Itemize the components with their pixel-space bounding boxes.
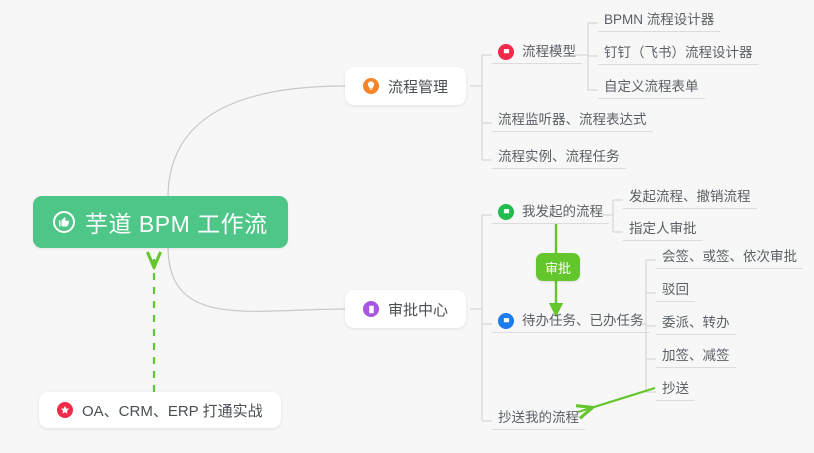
node-process-model[interactable]: 流程模型 (492, 40, 582, 64)
node-process-instance-task-label: 流程实例、流程任务 (498, 150, 620, 164)
node-cc-to-me-processes-label: 抄送我的流程 (498, 411, 579, 425)
link-root-to-approval-center (168, 246, 345, 311)
branch-approval-center[interactable]: 审批中心 (345, 290, 466, 328)
lightbulb-icon (363, 78, 379, 94)
floating-node-integration-label: OA、CRM、ERP 打通实战 (82, 400, 263, 421)
node-process-listener-expression[interactable]: 流程监听器、流程表达式 (492, 108, 653, 132)
node-assignee-approval[interactable]: 指定人审批 (623, 217, 703, 241)
floating-node-integration[interactable]: OA、CRM、ERP 打通实战 (39, 392, 281, 428)
node-cc-to-me-processes[interactable]: 抄送我的流程 (492, 406, 585, 430)
node-process-instance-task[interactable]: 流程实例、流程任务 (492, 145, 626, 169)
node-add-remove-sign-label: 加签、减签 (662, 349, 730, 363)
root-node[interactable]: 芋道 BPM 工作流 (33, 196, 288, 248)
clipboard-icon (363, 301, 379, 317)
node-dingtalk-feishu-designer[interactable]: 钉钉（飞书）流程设计器 (598, 41, 759, 65)
node-dingtalk-feishu-designer-label: 钉钉（飞书）流程设计器 (604, 46, 753, 60)
node-cc-label: 抄送 (662, 382, 689, 396)
mindmap-canvas: 芋道 BPM 工作流 流程管理 流程模型 BPMN 流程设计器 钉钉（飞书）流程… (0, 0, 814, 453)
branch-approval-center-label: 审批中心 (388, 299, 448, 320)
node-start-cancel-process[interactable]: 发起流程、撤销流程 (623, 185, 757, 209)
node-countersign-orsign-sequential-label: 会签、或签、依次审批 (662, 250, 797, 264)
root-label: 芋道 BPM 工作流 (85, 205, 268, 239)
branch-process-management[interactable]: 流程管理 (345, 67, 466, 105)
thumbs-up-icon (53, 211, 75, 233)
node-my-started-processes[interactable]: 我发起的流程 (492, 200, 609, 224)
node-delegate-transfer-label: 委派、转办 (662, 316, 730, 330)
node-process-model-label: 流程模型 (522, 45, 576, 59)
node-reject[interactable]: 驳回 (656, 278, 695, 302)
flag-icon (498, 313, 514, 329)
flag-icon (498, 44, 514, 60)
node-bpmn-designer-label: BPMN 流程设计器 (604, 13, 714, 27)
node-reject-label: 驳回 (662, 283, 689, 297)
node-bpmn-designer[interactable]: BPMN 流程设计器 (598, 8, 720, 32)
link-root-to-process-management (168, 86, 345, 198)
flag-icon (498, 204, 514, 220)
arrow-cc-flow (578, 388, 655, 412)
node-delegate-transfer[interactable]: 委派、转办 (656, 311, 736, 335)
node-todo-done-tasks[interactable]: 待办任务、已办任务 (492, 309, 650, 333)
node-custom-process-form[interactable]: 自定义流程表单 (598, 75, 705, 99)
star-icon (57, 402, 73, 418)
node-my-started-processes-label: 我发起的流程 (522, 205, 603, 219)
node-assignee-approval-label: 指定人审批 (629, 222, 697, 236)
node-cc[interactable]: 抄送 (656, 377, 695, 401)
annotation-approval-badge: 审批 (536, 253, 580, 281)
node-start-cancel-process-label: 发起流程、撤销流程 (629, 190, 751, 204)
branch-process-management-label: 流程管理 (388, 76, 448, 97)
node-countersign-orsign-sequential[interactable]: 会签、或签、依次审批 (656, 245, 803, 269)
node-add-remove-sign[interactable]: 加签、减签 (656, 344, 736, 368)
node-todo-done-tasks-label: 待办任务、已办任务 (522, 314, 644, 328)
annotation-approval-badge-label: 审批 (545, 258, 571, 277)
node-process-listener-expression-label: 流程监听器、流程表达式 (498, 113, 647, 127)
node-custom-process-form-label: 自定义流程表单 (604, 80, 699, 94)
